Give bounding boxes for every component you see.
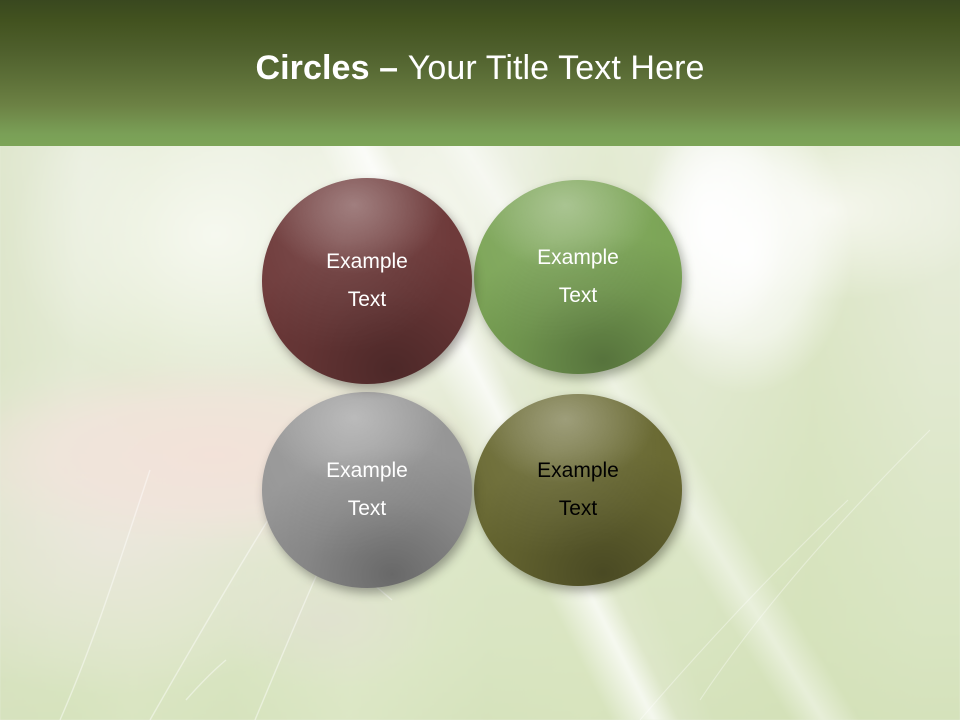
circle-top-right[interactable]: Example Text bbox=[474, 180, 682, 374]
circle-top-left[interactable]: Example Text bbox=[262, 178, 472, 384]
slide-canvas: Circles – Your Title Text Here Example T… bbox=[0, 0, 960, 720]
circle-sheen bbox=[262, 392, 472, 588]
title-dash: – bbox=[370, 49, 408, 87]
circle-bottom-left[interactable]: Example Text bbox=[262, 392, 472, 588]
circle-bottom-right[interactable]: Example Text bbox=[474, 394, 682, 586]
circle-sheen bbox=[262, 178, 472, 384]
circle-sheen bbox=[474, 394, 682, 586]
title-banner: Circles – Your Title Text Here bbox=[0, 0, 960, 146]
page-title: Circles – Your Title Text Here bbox=[0, 48, 960, 88]
circle-sheen bbox=[474, 180, 682, 374]
title-rest: Your Title Text Here bbox=[408, 49, 705, 87]
title-bold-part: Circles bbox=[255, 49, 369, 87]
